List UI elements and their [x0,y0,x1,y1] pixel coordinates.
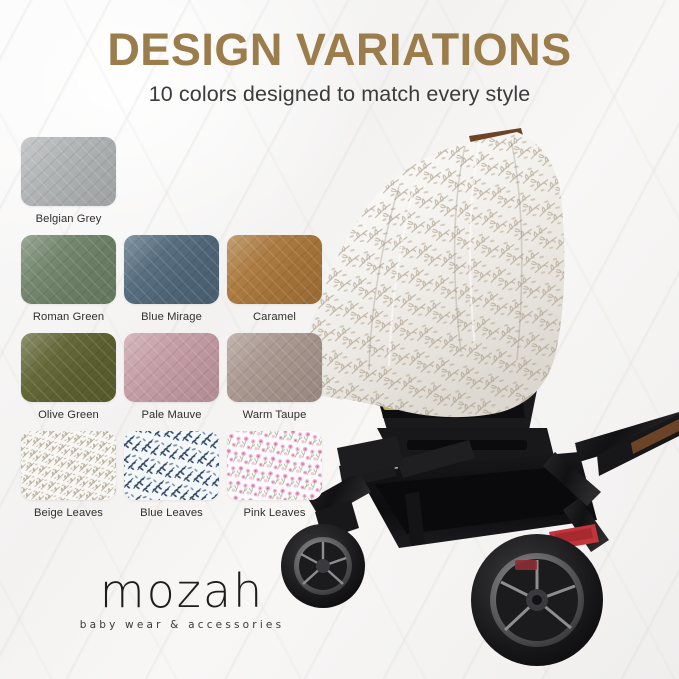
swatch-row: Beige Leaves [21,431,331,520]
swatch-chip[interactable] [227,235,322,304]
page-subtitle: 10 colors designed to match every style [0,81,679,107]
muslin-car-seat-cover [303,132,564,417]
swatch-chip[interactable] [227,333,322,402]
swatch-label: Blue Leaves [124,506,219,520]
swatch-label: Roman Green [21,310,116,324]
swatch-warm-taupe[interactable]: Warm Taupe [227,333,322,422]
swatch-label: Pink Leaves [227,506,322,520]
swatch-chip[interactable] [21,137,116,206]
swatch-beige-leaves[interactable]: Beige Leaves [21,431,116,520]
swatch-row: Belgian Grey [21,137,331,226]
swatch-label: Beige Leaves [21,506,116,520]
swatch-belgian-grey[interactable]: Belgian Grey [21,137,116,226]
product-infographic: DESIGN VARIATIONS 10 colors designed to … [0,0,679,679]
swatch-roman-green[interactable]: Roman Green [21,235,116,324]
swatch-pale-mauve[interactable]: Pale Mauve [124,333,219,422]
swatch-label: Pale Mauve [124,408,219,422]
rear-wheel-brand-mark [515,560,537,570]
swatch-chip[interactable] [124,333,219,402]
page-title: DESIGN VARIATIONS [0,24,679,76]
swatch-label: Belgian Grey [21,212,116,226]
swatch-blue-mirage[interactable]: Blue Mirage [124,235,219,324]
swatch-row: Olive Green Pale Mauve Warm Taupe [21,333,331,422]
brand-logo: mozah baby wear & accessories [62,566,302,632]
swatch-chip[interactable] [21,333,116,402]
swatch-label: Caramel [227,310,322,324]
color-swatch-grid: Belgian Grey Roman Green Blue Mirage Car… [21,137,331,529]
swatch-label: Warm Taupe [227,408,322,422]
swatch-chip[interactable] [124,431,219,500]
brand-name: mozah [62,566,302,616]
swatch-chip[interactable] [21,431,116,500]
header: DESIGN VARIATIONS 10 colors designed to … [0,24,679,107]
brand-tagline: baby wear & accessories [62,618,302,632]
swatch-chip[interactable] [227,431,322,500]
swatch-chip[interactable] [21,235,116,304]
swatch-caramel[interactable]: Caramel [227,235,322,324]
stroller-rear-wheel [471,534,603,666]
swatch-row: Roman Green Blue Mirage Caramel [21,235,331,324]
swatch-olive-green[interactable]: Olive Green [21,333,116,422]
swatch-pink-leaves[interactable]: Pink Leaves [227,431,322,520]
swatch-label: Blue Mirage [124,310,219,324]
swatch-blue-leaves[interactable]: Blue Leaves [124,431,219,520]
swatch-chip[interactable] [124,235,219,304]
swatch-label: Olive Green [21,408,116,422]
